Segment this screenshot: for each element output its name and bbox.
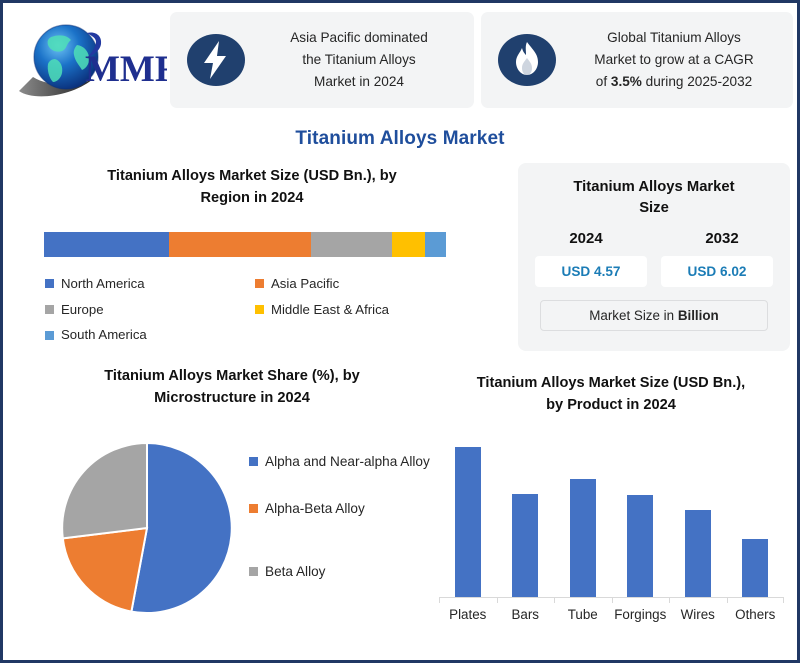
legend-label: Asia Pacific	[271, 271, 339, 297]
legend-item-beta: Beta Alloy	[249, 562, 444, 581]
product-chart-block: Titanium Alloys Market Size (USD Bn.), b…	[431, 373, 791, 622]
product-bar-wires	[685, 510, 711, 598]
category-label-tube: Tube	[554, 607, 612, 622]
region-title-line-1: Titanium Alloys Market Size (USD Bn.), b…	[39, 166, 465, 188]
cagr-line-2: Market to grow at a CAGR	[567, 49, 781, 71]
header-card-cagr-text: Global Titanium Alloys Market to grow at…	[567, 27, 793, 93]
axis-tick-end	[783, 598, 784, 603]
microstructure-chart-block: Titanium Alloys Market Share (%), by Mic…	[17, 366, 447, 625]
header-card-apac-text: Asia Pacific dominated the Titanium Allo…	[256, 27, 474, 93]
product-column-wires	[669, 438, 727, 598]
pie-slice-beta	[62, 443, 147, 538]
legend-swatch-icon	[45, 331, 54, 340]
apac-line-1: Asia Pacific dominated	[256, 27, 462, 49]
axis-tick	[497, 598, 555, 603]
product-bar-bars	[512, 494, 538, 598]
legend-item-north-america: North America	[45, 271, 255, 297]
axis-tick	[439, 598, 497, 603]
product-chart-category-labels: Plates Bars Tube Forgings Wires Others	[439, 607, 784, 622]
legend-label: South America	[61, 322, 147, 348]
lightning-bolt-icon	[186, 30, 246, 90]
legend-item-europe: Europe	[45, 297, 255, 323]
legend-item-alpha-beta: Alpha-Beta Alloy	[249, 499, 444, 518]
category-label-forgings: Forgings	[612, 607, 670, 622]
product-bar-others	[742, 539, 768, 598]
mmr-globe-logo: MMR	[15, 15, 167, 103]
market-size-values: USD 4.57 USD 6.02	[518, 256, 790, 287]
microstructure-legend: Alpha and Near-alpha Alloy Alpha-Beta Al…	[249, 452, 444, 581]
product-chart-title: Titanium Alloys Market Size (USD Bn.), b…	[431, 373, 791, 417]
market-size-years: 2024 2032	[518, 230, 790, 247]
region-segment-middle-east-africa	[392, 232, 425, 257]
product-column-tube	[554, 438, 612, 598]
product-column-plates	[439, 438, 497, 598]
region-segment-asia-pacific	[169, 232, 312, 257]
pie-title-line-1: Titanium Alloys Market Share (%), by	[41, 366, 423, 388]
size-title-line-1: Titanium Alloys Market	[544, 177, 764, 198]
prod-title-line-1: Titanium Alloys Market Size (USD Bn.),	[431, 373, 791, 395]
market-size-card: Titanium Alloys Market Size 2024 2032 US…	[518, 163, 790, 351]
category-label-bars: Bars	[497, 607, 555, 622]
product-bar-tube	[570, 479, 596, 598]
region-chart-block: Titanium Alloys Market Size (USD Bn.), b…	[17, 166, 487, 348]
infographic-canvas: MMR Asia Pacific dominated the Titanium …	[0, 0, 800, 663]
cagr-line-1: Global Titanium Alloys	[567, 27, 781, 49]
region-chart-legend: North America Asia Pacific Europe Middle…	[45, 271, 465, 348]
legend-item-south-america: South America	[45, 322, 255, 348]
region-segment-europe	[311, 232, 391, 257]
header-card-apac: Asia Pacific dominated the Titanium Allo…	[170, 12, 474, 108]
legend-label: North America	[61, 271, 145, 297]
region-segment-south-america	[425, 232, 446, 257]
region-title-line-2: Region in 2024	[39, 188, 465, 210]
product-column-others	[727, 438, 785, 598]
size-year-2024: 2024	[518, 230, 654, 247]
apac-line-2: the Titanium Alloys	[256, 49, 462, 71]
region-segment-north-america	[44, 232, 169, 257]
flame-icon	[497, 30, 557, 90]
prod-title-line-2: by Product in 2024	[431, 395, 791, 417]
legend-swatch-icon	[249, 504, 258, 513]
category-label-others: Others	[727, 607, 785, 622]
product-bars-container	[439, 438, 784, 598]
legend-swatch-icon	[249, 457, 258, 466]
category-label-wires: Wires	[669, 607, 727, 622]
product-chart-ticks	[439, 598, 784, 603]
size-note-pre: Market Size in	[589, 308, 678, 323]
legend-label: Alpha-Beta Alloy	[265, 499, 365, 518]
legend-swatch-icon	[255, 305, 264, 314]
legend-label: Alpha and Near-alpha Alloy	[265, 452, 430, 471]
legend-swatch-icon	[45, 279, 54, 288]
legend-label: Europe	[61, 297, 104, 323]
cagr-line-3: of 3.5% during 2025-2032	[567, 71, 781, 93]
size-title-line-2: Size	[544, 198, 764, 219]
microstructure-pie-chart	[57, 438, 237, 618]
cagr-line3-pre: of	[596, 74, 611, 89]
product-bar-chart	[439, 433, 784, 598]
legend-swatch-icon	[249, 567, 258, 576]
legend-label: Middle East & Africa	[271, 297, 389, 323]
pie-title-line-2: Microstructure in 2024	[41, 388, 423, 410]
axis-tick	[669, 598, 727, 603]
size-value-2032: USD 6.02	[661, 256, 773, 287]
legend-swatch-icon	[255, 279, 264, 288]
axis-tick	[554, 598, 612, 603]
product-bar-forgings	[627, 495, 653, 598]
size-note-bold: Billion	[678, 308, 719, 323]
size-year-2032: 2032	[654, 230, 790, 247]
cagr-line3-post: during 2025-2032	[642, 74, 752, 89]
axis-tick	[727, 598, 785, 603]
cagr-value: 3.5%	[611, 74, 642, 89]
header-bar: MMR Asia Pacific dominated the Titanium …	[3, 3, 797, 115]
region-stacked-bar	[44, 232, 446, 257]
size-value-2024: USD 4.57	[535, 256, 647, 287]
legend-item-alpha-near-alpha: Alpha and Near-alpha Alloy	[249, 452, 444, 471]
legend-label: Beta Alloy	[265, 562, 325, 581]
legend-item-asia-pacific: Asia Pacific	[255, 271, 465, 297]
microstructure-chart-title: Titanium Alloys Market Share (%), by Mic…	[17, 366, 447, 410]
axis-tick	[612, 598, 670, 603]
market-size-card-title: Titanium Alloys Market Size	[518, 163, 790, 220]
pie-slice-alpha-beta	[63, 528, 147, 612]
header-card-cagr: Global Titanium Alloys Market to grow at…	[481, 12, 793, 108]
apac-line-3: Market in 2024	[256, 71, 462, 93]
product-column-bars	[497, 438, 555, 598]
legend-item-middle-east-africa: Middle East & Africa	[255, 297, 465, 323]
page-title: Titanium Alloys Market	[3, 128, 797, 150]
logo-wordmark: MMR	[85, 49, 167, 90]
product-column-forgings	[612, 438, 670, 598]
microstructure-pie-area: Alpha and Near-alpha Alloy Alpha-Beta Al…	[17, 410, 447, 625]
legend-swatch-icon	[45, 305, 54, 314]
region-chart-title: Titanium Alloys Market Size (USD Bn.), b…	[17, 166, 487, 210]
market-size-unit-note: Market Size in Billion	[540, 300, 768, 331]
product-bar-plates	[455, 447, 481, 598]
category-label-plates: Plates	[439, 607, 497, 622]
